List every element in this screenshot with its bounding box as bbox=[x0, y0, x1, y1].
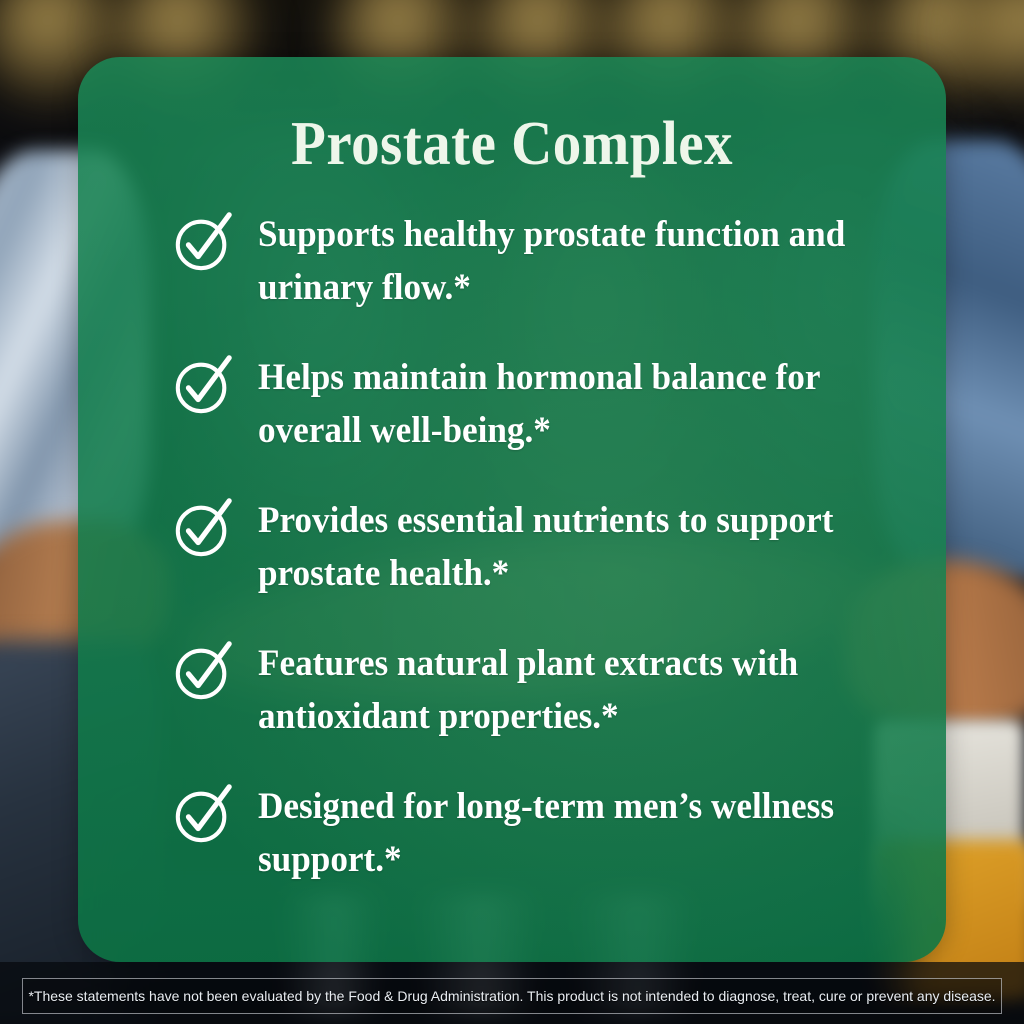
page-title: Prostate Complex bbox=[113, 57, 912, 175]
disclaimer-text: *These statements have not been evaluate… bbox=[28, 989, 995, 1003]
disclaimer-box: *These statements have not been evaluate… bbox=[22, 978, 1002, 1014]
check-circle-icon bbox=[172, 497, 234, 559]
benefit-text: Supports healthy prostate function and u… bbox=[258, 209, 847, 314]
check-circle-icon bbox=[172, 640, 234, 702]
check-circle-icon bbox=[172, 354, 234, 416]
list-item: Helps maintain hormonal balance for over… bbox=[172, 352, 946, 457]
benefit-text: Features natural plant extracts with ant… bbox=[258, 638, 847, 743]
benefit-text: Provides essential nutrients to support … bbox=[258, 495, 847, 600]
benefit-text: Designed for long-term men’s wellness su… bbox=[258, 781, 847, 886]
product-benefits-graphic: Prostate Complex Supports healthy prosta… bbox=[0, 0, 1024, 1024]
benefit-text: Helps maintain hormonal balance for over… bbox=[258, 352, 847, 457]
list-item: Supports healthy prostate function and u… bbox=[172, 209, 946, 314]
benefits-list: Supports healthy prostate function and u… bbox=[78, 175, 946, 886]
disclaimer-bar: *These statements have not been evaluate… bbox=[0, 962, 1024, 1024]
benefits-card: Prostate Complex Supports healthy prosta… bbox=[78, 57, 946, 962]
list-item: Features natural plant extracts with ant… bbox=[172, 638, 946, 743]
list-item: Designed for long-term men’s wellness su… bbox=[172, 781, 946, 886]
check-circle-icon bbox=[172, 783, 234, 845]
list-item: Provides essential nutrients to support … bbox=[172, 495, 946, 600]
check-circle-icon bbox=[172, 211, 234, 273]
